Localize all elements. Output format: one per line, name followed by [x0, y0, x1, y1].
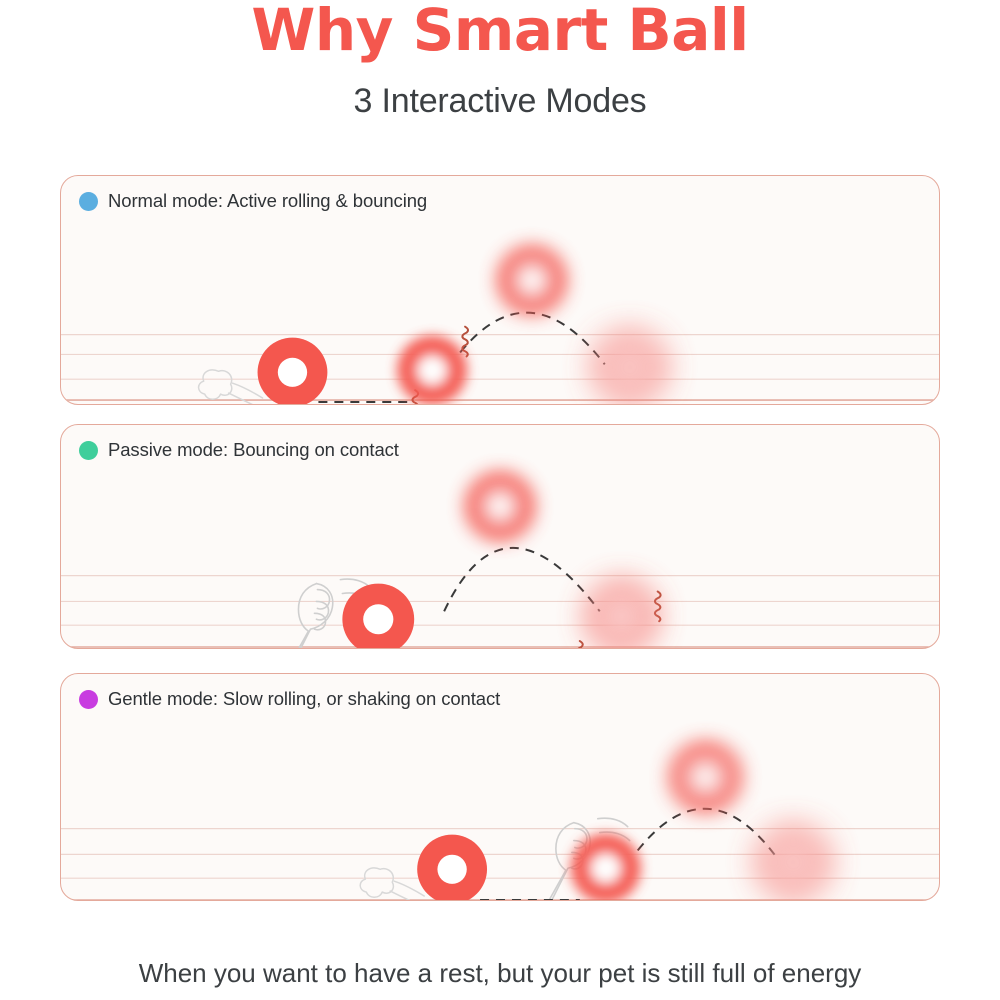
- mode-label: Normal mode: Active rolling & bouncing: [108, 190, 427, 212]
- mode-panel-normal[interactable]: Normal mode: Active rolling & bouncing: [60, 175, 940, 405]
- panel-header-normal: Normal mode: Active rolling & bouncing: [79, 190, 427, 212]
- mode-dot-icon: [79, 441, 98, 460]
- mode-dot-icon: [79, 192, 98, 211]
- footer-caption: When you want to have a rest, but your p…: [0, 958, 1000, 989]
- page-title: Why Smart Ball: [0, 0, 1000, 64]
- mode-label: Passive mode: Bouncing on contact: [108, 439, 399, 461]
- page-subtitle: 3 Interactive Modes: [0, 82, 1000, 121]
- mode-panel-gentle[interactable]: Gentle mode: Slow rolling, or shaking on…: [60, 673, 940, 901]
- poster-root: Why Smart Ball 3 Interactive Modes Norma…: [0, 0, 1000, 1000]
- mode-dot-icon: [79, 690, 98, 709]
- mode-panel-passive[interactable]: Passive mode: Bouncing on contact: [60, 424, 940, 649]
- mode-label: Gentle mode: Slow rolling, or shaking on…: [108, 688, 500, 710]
- panel-header-gentle: Gentle mode: Slow rolling, or shaking on…: [79, 688, 500, 710]
- panel-header-passive: Passive mode: Bouncing on contact: [79, 439, 399, 461]
